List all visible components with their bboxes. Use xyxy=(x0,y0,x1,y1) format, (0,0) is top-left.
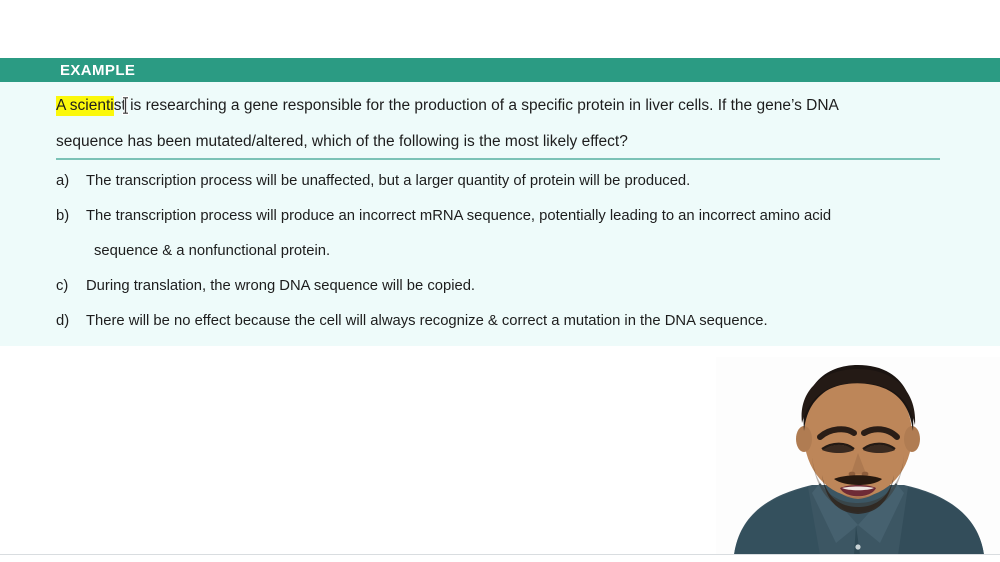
option-text-d: There will be no effect because the cell… xyxy=(86,310,956,332)
option-text-b-line2: sequence & a nonfunctional protein. xyxy=(86,240,956,262)
answer-option-c[interactable]: c) During translation, the wrong DNA seq… xyxy=(56,275,956,297)
option-text-a: The transcription process will be unaffe… xyxy=(86,170,956,192)
option-text-b-line1: The transcription process will produce a… xyxy=(86,208,831,224)
answer-option-a[interactable]: a) The transcription process will be una… xyxy=(56,170,956,192)
lesson-screen: EXAMPLE A scientist is researching a gen… xyxy=(0,0,1000,562)
question-stem: A scientist is researching a gene respon… xyxy=(56,88,946,160)
option-marker-a: a) xyxy=(56,170,86,192)
option-marker-d: d) xyxy=(56,310,86,332)
example-banner: EXAMPLE xyxy=(0,58,1000,82)
option-text-b: The transcription process will produce a… xyxy=(86,205,956,262)
answer-option-d[interactable]: d) There will be no effect because the c… xyxy=(56,310,956,332)
question-line2: sequence has been mutated/altered, which… xyxy=(56,133,628,150)
option-marker-c: c) xyxy=(56,275,86,297)
answer-option-b[interactable]: b) The transcription process will produc… xyxy=(56,205,956,262)
answer-options-list: a) The transcription process will be una… xyxy=(56,170,956,345)
text-ibeam-cursor-icon xyxy=(120,96,132,116)
stem-divider xyxy=(56,158,940,160)
option-marker-b: b) xyxy=(56,205,86,227)
option-text-c: During translation, the wrong DNA sequen… xyxy=(86,275,956,297)
instructor-video-overlay[interactable] xyxy=(716,357,1000,555)
question-line1-rest: st is researching a gene responsible for… xyxy=(114,97,839,114)
bottom-divider xyxy=(0,554,1000,555)
example-banner-label: EXAMPLE xyxy=(60,62,135,79)
example-slide-panel: EXAMPLE A scientist is researching a gen… xyxy=(0,58,1000,346)
instructor-video-feed-icon xyxy=(716,357,1000,555)
highlighted-phrase: A scienti xyxy=(56,96,114,116)
